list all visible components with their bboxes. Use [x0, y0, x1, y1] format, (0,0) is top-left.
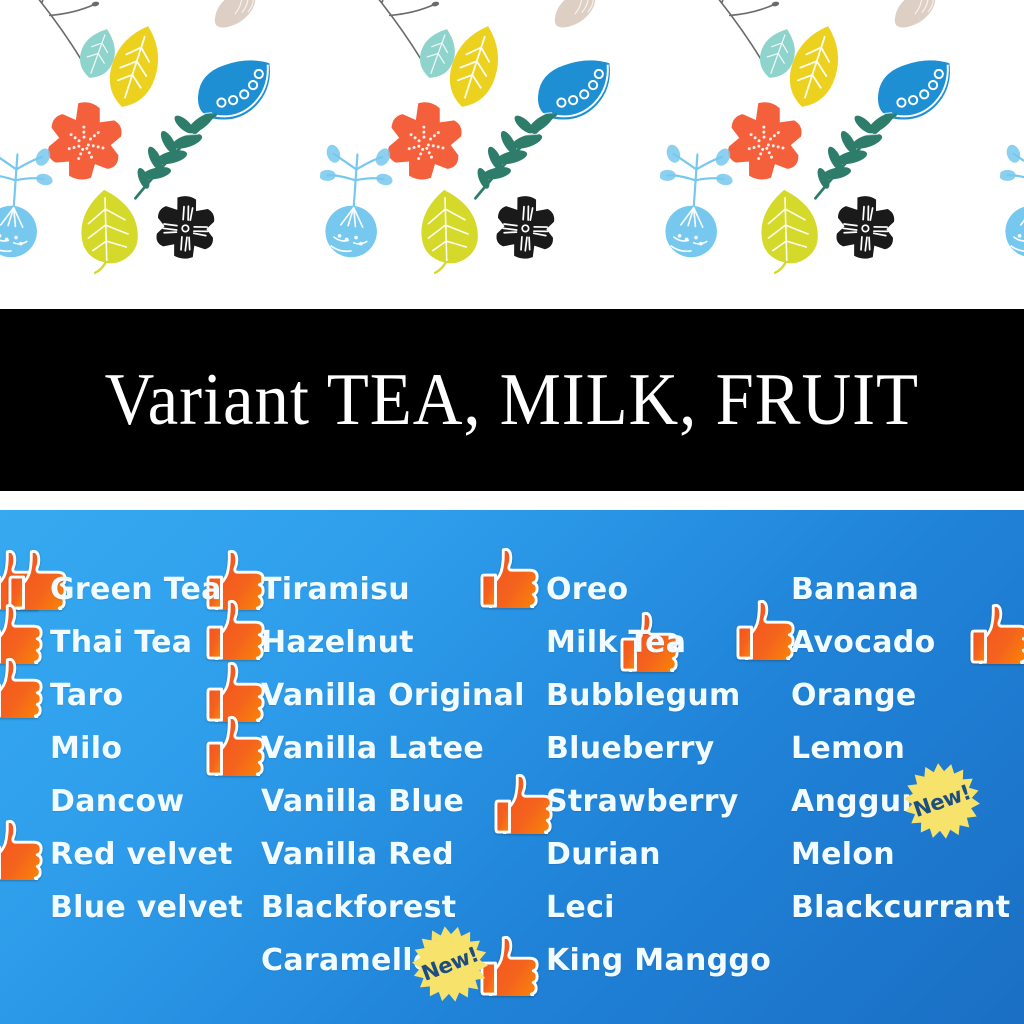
menu-item-label: Red velvet	[50, 837, 233, 872]
title-band: Variant TEA, MILK, FRUIT	[0, 309, 1024, 491]
menu-item-thai-tea[interactable]: Thai Tea	[50, 625, 192, 660]
menu-item-label: Dancow	[50, 784, 184, 819]
motif-berry	[991, 138, 1024, 269]
menu-item-durian[interactable]: Durian	[546, 837, 661, 872]
menu-item-label: Blue velvet	[50, 890, 243, 925]
thumbs-up-icon	[206, 598, 268, 660]
motif-limeLeaf	[752, 183, 825, 281]
thumbs-up-icon	[970, 602, 1024, 664]
menu-item-label: Avocado	[791, 625, 936, 660]
menu-item-label: Bubblegum	[546, 678, 741, 713]
menu-item-blueberry[interactable]: Blueberry	[546, 731, 715, 766]
botanical-pattern-header	[0, 0, 1024, 300]
menu-item-label: Vanilla Original	[261, 678, 525, 713]
menu-item-label: Melon	[791, 837, 895, 872]
menu-item-label: Strawberry	[546, 784, 739, 819]
motif-beigePetal	[206, 0, 266, 38]
menu-item-vanilla-original[interactable]: Vanilla Original	[261, 678, 525, 713]
motif-berry	[0, 138, 57, 269]
motif-blackFlower	[827, 190, 904, 270]
menu-item-strawberry[interactable]: Strawberry	[546, 784, 739, 819]
menu-item-orange[interactable]: Orange	[791, 678, 917, 713]
menu-item-red-velvet[interactable]: Red velvet	[50, 837, 233, 872]
menu-item-label: Vanilla Red	[261, 837, 454, 872]
menu-item-label: Blackforest	[261, 890, 456, 925]
variant-menu-panel: Green TeaThai TeaTaroMiloDancowRed velve…	[0, 510, 1024, 1024]
motif-beigePetal	[546, 0, 606, 38]
menu-item-label: Thai Tea	[50, 625, 192, 660]
menu-item-milk-tea[interactable]: Milk Tea	[546, 625, 686, 660]
motif-berry	[651, 138, 737, 269]
thumbs-up-icon	[206, 714, 268, 776]
menu-item-tiramisu[interactable]: Tiramisu	[261, 572, 410, 607]
menu-item-banana[interactable]: Banana	[791, 572, 919, 607]
menu-item-label: Banana	[791, 572, 919, 607]
new-badge: New!	[899, 758, 985, 844]
menu-item-vanilla-red[interactable]: Vanilla Red	[261, 837, 454, 872]
menu-item-label: Tiramisu	[261, 572, 410, 607]
motif-limeLeaf	[412, 183, 485, 281]
thumbs-up-icon	[0, 818, 46, 880]
menu-item-bubblegum[interactable]: Bubblegum	[546, 678, 741, 713]
menu-item-hazelnut[interactable]: Hazelnut	[261, 625, 414, 660]
thumbs-up-icon	[480, 546, 542, 608]
menu-item-label: Vanilla Blue	[261, 784, 464, 819]
thumbs-up-icon	[0, 656, 46, 718]
promo-poster: Variant TEA, MILK, FRUIT	[0, 0, 1024, 1024]
new-badge: New!	[406, 920, 494, 1008]
menu-item-label: Milk Tea	[546, 625, 686, 660]
menu-item-label: Leci	[546, 890, 615, 925]
menu-item-label: Blueberry	[546, 731, 715, 766]
menu-item-label: Milo	[50, 731, 122, 766]
menu-item-label: Durian	[546, 837, 661, 872]
menu-item-label: Lemon	[791, 731, 905, 766]
menu-item-vanilla-latee[interactable]: Vanilla Latee	[261, 731, 484, 766]
menu-item-lemon[interactable]: Lemon	[791, 731, 905, 766]
menu-item-blue-velvet[interactable]: Blue velvet	[50, 890, 243, 925]
motif-limeLeaf	[72, 183, 145, 281]
menu-item-oreo[interactable]: Oreo	[546, 572, 628, 607]
menu-item-milo[interactable]: Milo	[50, 731, 122, 766]
menu-item-blackforest[interactable]: Blackforest	[261, 890, 456, 925]
menu-item-blackcurrant[interactable]: Blackcurrant	[791, 890, 1010, 925]
menu-item-vanilla-blue[interactable]: Vanilla Blue	[261, 784, 464, 819]
menu-item-label: Orange	[791, 678, 917, 713]
menu-item-taro[interactable]: Taro	[50, 678, 123, 713]
menu-item-label: Taro	[50, 678, 123, 713]
thumbs-up-icon	[736, 598, 798, 660]
menu-item-leci[interactable]: Leci	[546, 890, 615, 925]
menu-item-dancow[interactable]: Dancow	[50, 784, 184, 819]
motif-berry	[311, 138, 397, 269]
menu-item-avocado[interactable]: Avocado	[791, 625, 936, 660]
menu-item-label: Hazelnut	[261, 625, 414, 660]
motif-blackFlower	[147, 190, 224, 270]
menu-item-label: Vanilla Latee	[261, 731, 484, 766]
thumbs-up-icon	[206, 660, 268, 722]
menu-item-label: Green Tea	[50, 572, 222, 607]
menu-item-label: King Manggo	[546, 943, 771, 978]
menu-item-king-manggo[interactable]: King Manggo	[546, 943, 771, 978]
menu-item-melon[interactable]: Melon	[791, 837, 895, 872]
page-title: Variant TEA, MILK, FRUIT	[105, 363, 919, 437]
menu-item-green-tea[interactable]: Green Tea	[50, 572, 222, 607]
menu-item-label: Blackcurrant	[791, 890, 1010, 925]
motif-beigePetal	[886, 0, 946, 38]
motif-blackFlower	[487, 190, 564, 270]
menu-item-label: Oreo	[546, 572, 628, 607]
thumbs-up-icon	[0, 602, 46, 664]
